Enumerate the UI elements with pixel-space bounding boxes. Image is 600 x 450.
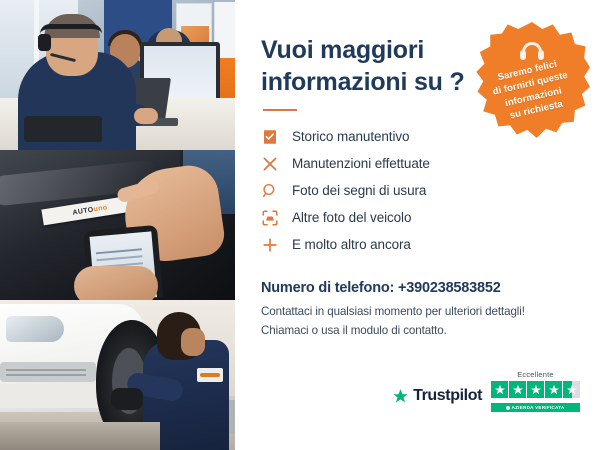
phone-number: +390238583852	[398, 280, 501, 296]
car-headlight	[6, 316, 64, 342]
feature-label: Manutenzioni effettuate	[292, 156, 430, 171]
verified-check-icon	[506, 406, 510, 410]
contact-subtext-line-2: Chiamaci o usa il modulo di contatto.	[261, 322, 574, 341]
magnifier-icon	[261, 182, 279, 200]
trustpilot-widget[interactable]: Trustpilot Eccellente AZIENDA VERIFICATA	[392, 370, 580, 412]
feature-list: Storico manutentivo Manutenzioni effettu…	[261, 123, 574, 258]
headset-band-icon	[40, 24, 102, 34]
call-center-agents-photo	[0, 0, 235, 150]
uniform-logo-patch	[197, 368, 223, 382]
mechanic-face	[181, 328, 205, 356]
vehicle-label-inspection-photo: AUTOuno	[0, 150, 235, 300]
feature-label: E molto altro ancora	[292, 237, 411, 252]
vehicle-lift-platform	[0, 422, 160, 450]
photo-strip: AUTOuno	[0, 0, 235, 450]
auto-label-prefix: AUTO	[72, 206, 94, 216]
contact-subtext: Contattaci in qualsiasi momento per ulte…	[261, 303, 574, 341]
page-title: Vuoi maggiori informazioni su ?	[261, 34, 476, 98]
verified-badge-label: AZIENDA VERIFICATA	[512, 405, 565, 410]
feature-label: Storico manutentivo	[292, 129, 409, 144]
headset-earcup-icon	[38, 34, 51, 51]
desk-tablet	[24, 116, 102, 142]
trustpilot-star-icon	[392, 388, 409, 405]
tools-wrench-screwdriver-icon	[261, 155, 279, 173]
feature-item-altre-foto-veicolo: Altre foto del veicolo	[261, 204, 574, 231]
content-panel: Vuoi maggiori informazioni su ? Saremo f…	[235, 0, 600, 450]
trustpilot-rating-block: Eccellente AZIENDA VERIFICATA	[491, 370, 580, 412]
feature-label: Foto dei segni di usura	[292, 183, 426, 198]
foreground-agent-hand	[134, 108, 158, 124]
plus-icon	[261, 236, 279, 254]
promo-banner: AUTOuno Vuoi	[0, 0, 600, 450]
title-divider	[263, 109, 297, 111]
phone-label: Numero di telefono:	[261, 280, 398, 296]
feature-item-manutenzioni-effettuate: Manutenzioni effettuate	[261, 150, 574, 177]
rating-star-1	[491, 381, 508, 398]
trustpilot-wordmark: Trustpilot	[413, 387, 482, 405]
headset-icon	[519, 42, 545, 62]
feature-item-foto-segni-usura: Foto dei segni di usura	[261, 177, 574, 204]
auto-label-suffix: uno	[93, 204, 108, 213]
verified-business-badge: AZIENDA VERIFICATA	[491, 403, 580, 412]
trustpilot-star-rating	[491, 381, 580, 398]
rating-star-3	[527, 381, 544, 398]
car-scan-frame-icon	[261, 209, 279, 227]
rating-star-5-partial	[563, 381, 580, 398]
feature-label: Altre foto del veicolo	[292, 210, 411, 225]
headset-earcup-right	[538, 50, 544, 60]
rating-star-4	[545, 381, 562, 398]
headset-earcup-left	[520, 50, 526, 60]
mechanic-wheel-service-photo	[0, 300, 235, 450]
trustpilot-rating-label: Eccellente	[517, 370, 554, 379]
car-grille	[0, 362, 96, 382]
callout-badge: Saremo felici di fornirti queste informa…	[474, 22, 590, 138]
contact-subtext-line-1: Contattaci in qualsiasi momento per ulte…	[261, 303, 574, 322]
phone-number-line: Numero di telefono: +390238583852	[261, 280, 574, 296]
feature-item-molto-altro: E molto altro ancora	[261, 231, 574, 258]
trustpilot-logo: Trustpilot	[392, 387, 482, 412]
inspector-hand-lower	[74, 266, 158, 300]
mechanic-glove	[111, 388, 143, 410]
clipboard-check-icon	[261, 128, 279, 146]
rating-star-2	[509, 381, 526, 398]
